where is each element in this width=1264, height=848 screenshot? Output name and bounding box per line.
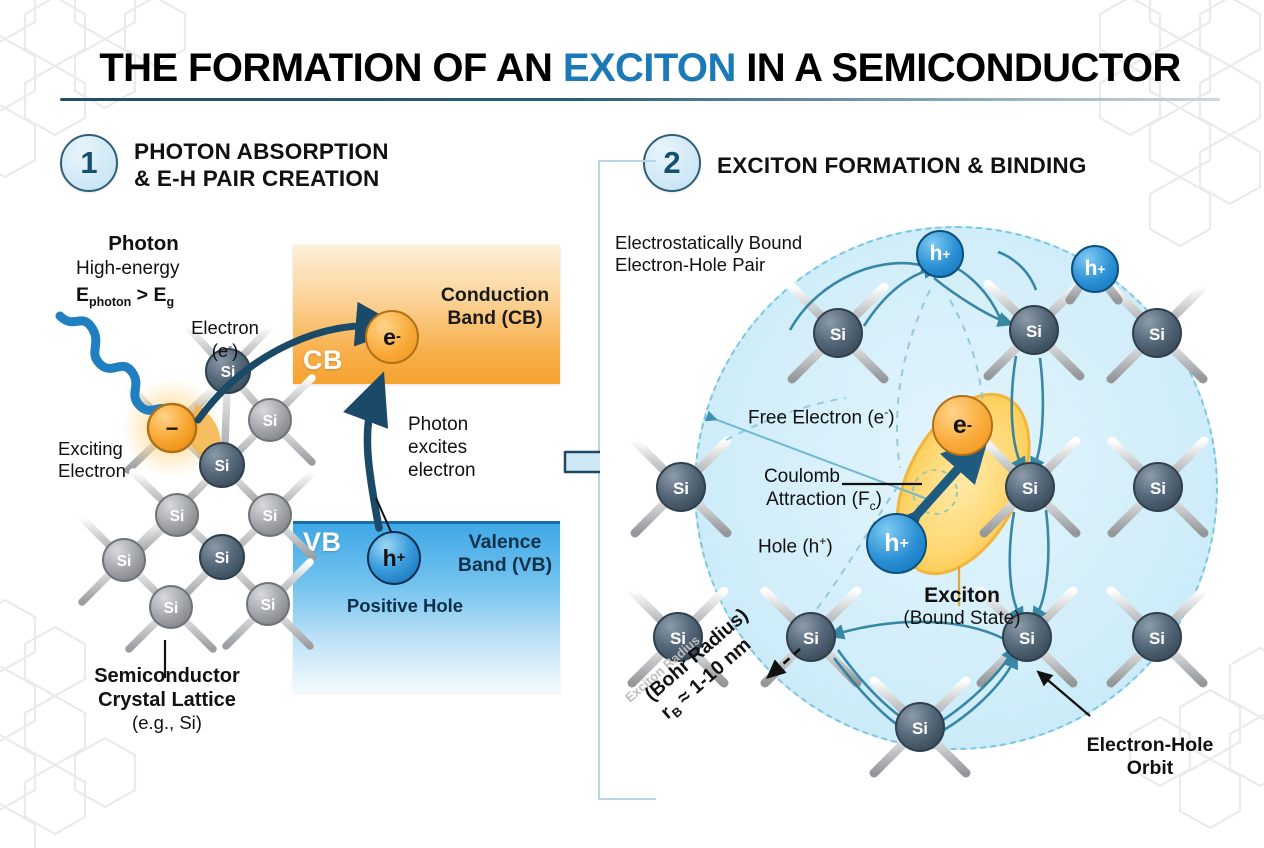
photon-subtitle: High-energy	[76, 258, 286, 281]
photon-eq-gt: > E	[131, 284, 166, 306]
title-bar: THE FORMATION OF AN EXCITON IN A SEMICON…	[60, 42, 1220, 108]
title-highlight: EXCITON	[563, 46, 736, 90]
electron-label: Electron	[165, 317, 285, 339]
photon-eq-E: E	[76, 284, 89, 306]
svg-text:Si: Si	[830, 325, 846, 344]
orbit-line2: Orbit	[1060, 757, 1240, 780]
orbit-hole-particle-1: h+	[916, 230, 964, 278]
bound-pair-line2: Electron-Hole Pair	[615, 254, 875, 276]
svg-text:Si: Si	[1019, 629, 1035, 648]
lattice-caption-line3: (e.g., Si)	[62, 712, 272, 734]
svg-text:Si: Si	[261, 597, 276, 614]
free-electron-text: Free Electron (e	[748, 407, 884, 428]
electron-label-group: Electron (e-)	[165, 317, 285, 363]
electron-symbol-group: (e-)	[165, 339, 285, 362]
hole-symbol-1: h	[930, 242, 943, 266]
free-electron-label: Free Electron (e-)	[748, 405, 978, 430]
photon-eq-sub: photon	[89, 295, 131, 309]
exciton-line2: (Bound State)	[862, 608, 1062, 631]
page-title: THE FORMATION OF AN EXCITON IN A SEMICON…	[60, 42, 1220, 94]
orbit-line1: Electron-Hole	[1060, 734, 1240, 757]
svg-text:Si: Si	[263, 508, 278, 525]
lattice-caption-line1: Semiconductor	[62, 664, 272, 688]
vb-hole-particle: h+	[367, 531, 421, 585]
coulomb-line2-b: )	[876, 489, 882, 510]
exciton-hole-symbol: h	[884, 529, 899, 558]
coulomb-line1: Coulomb	[722, 466, 840, 489]
exciton-label: Exciton (Bound State)	[862, 583, 1062, 631]
title-after: IN A SEMICONDUCTOR	[736, 46, 1181, 90]
bound-pair-label: Electrostatically Bound Electron-Hole Pa…	[615, 232, 875, 276]
svg-text:Si: Si	[912, 719, 928, 738]
coulomb-attraction-label: Coulomb Attraction (Fc)	[722, 466, 922, 513]
photon-eq-g: g	[166, 295, 174, 309]
svg-text:Si: Si	[164, 600, 179, 617]
electron-symbol-end: )	[232, 340, 238, 361]
bound-pair-line1: Electrostatically Bound	[615, 232, 875, 254]
svg-text:Si: Si	[117, 553, 132, 570]
coulomb-line2: Attraction (Fc)	[722, 489, 882, 513]
exciton-hole-sup: +	[899, 535, 908, 553]
vb-hole-sup: +	[397, 550, 406, 566]
photon-title: Photon	[76, 232, 211, 257]
lattice-caption-line2: Crystal Lattice	[62, 688, 272, 712]
photon-energy-equation: Ephoton > Eg	[76, 284, 286, 310]
svg-text:Si: Si	[263, 413, 278, 430]
svg-text:Si: Si	[215, 550, 230, 567]
photon-label-group: Photon High-energy Ephoton > Eg	[76, 232, 286, 310]
photon-excites-label: Photon excites electron	[408, 414, 538, 482]
lattice-caption: Semiconductor Crystal Lattice (e.g., Si)	[62, 664, 272, 734]
svg-text:Si: Si	[215, 458, 230, 475]
cb-electron-symbol: e	[383, 324, 396, 351]
orbit-hole-particle-2: h+	[1071, 245, 1119, 293]
svg-text:Si: Si	[673, 479, 689, 498]
exciting-electron-label: Exciting Electron	[58, 438, 178, 482]
hole-sup-1: +	[942, 247, 950, 262]
electron-hole-orbit-label: Electron-Hole Orbit	[1060, 734, 1240, 781]
vb-hole-symbol: h	[383, 545, 397, 572]
svg-text:Si: Si	[1026, 322, 1042, 341]
svg-text:Si: Si	[1149, 325, 1165, 344]
title-underline	[60, 98, 1220, 101]
coulomb-line2-a: Attraction (F	[766, 489, 869, 510]
cb-electron-particle: e-	[365, 310, 419, 364]
title-before: THE FORMATION OF AN	[99, 46, 563, 90]
free-electron-end: )	[888, 407, 894, 428]
svg-text:Si: Si	[1150, 479, 1166, 498]
svg-text:Si: Si	[1022, 479, 1038, 498]
hole-symbol-2: h	[1085, 257, 1098, 281]
svg-text:Si: Si	[803, 629, 819, 648]
svg-text:Si: Si	[1149, 629, 1165, 648]
cb-electron-sup: -	[396, 329, 401, 345]
exciton-line1: Exciton	[862, 583, 1062, 608]
svg-text:Si: Si	[170, 508, 185, 525]
electron-symbol: (e	[212, 340, 228, 361]
hole-sup-2: +	[1097, 262, 1105, 277]
